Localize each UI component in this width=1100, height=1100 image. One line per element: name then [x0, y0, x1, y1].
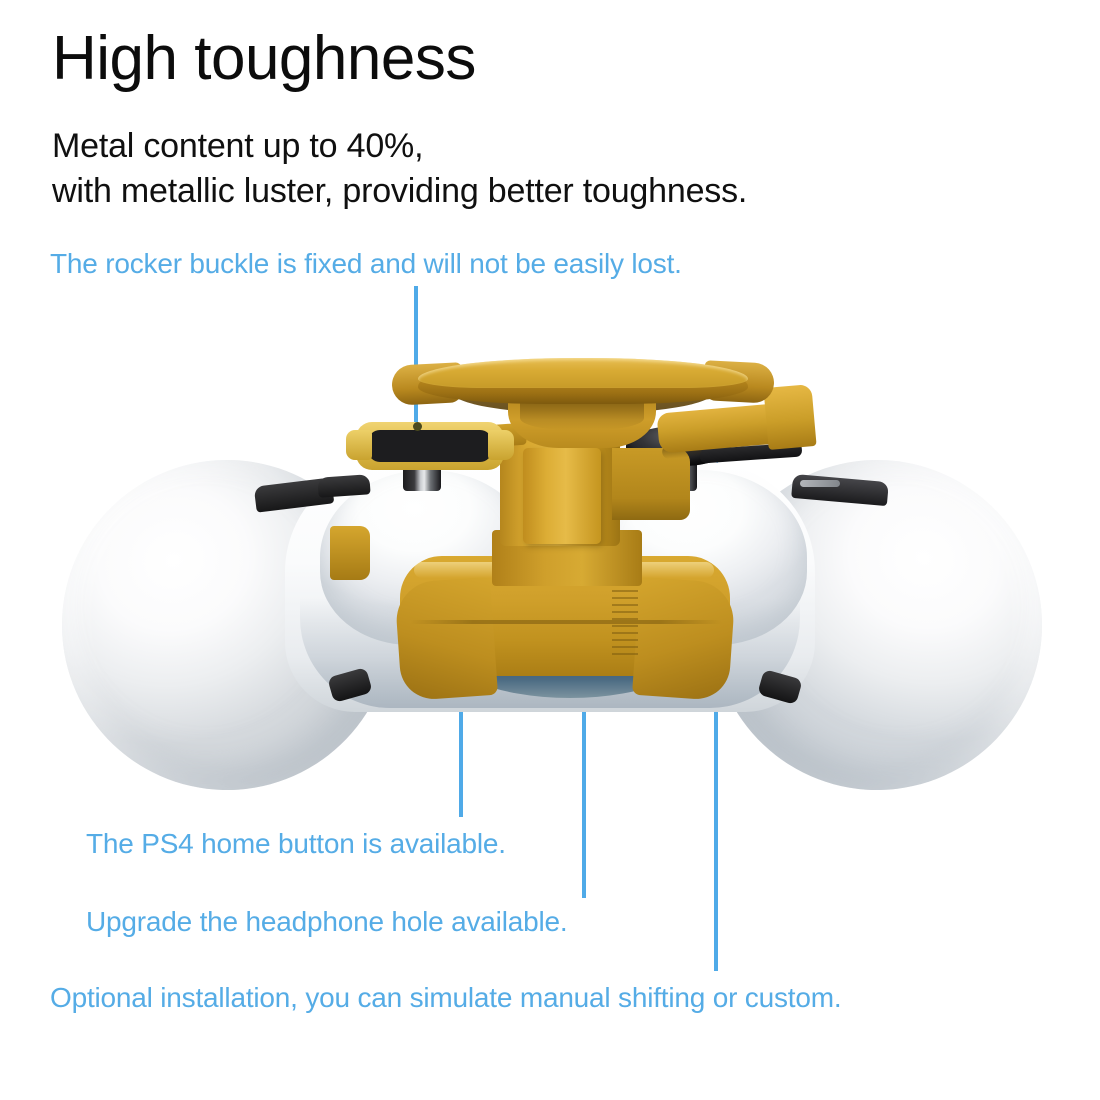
shoulder-button-r1-highlight [800, 480, 840, 487]
steering-wheel-hub-shade [520, 400, 644, 430]
page-title: High toughness [52, 28, 476, 90]
mount-shell-left-wing [394, 577, 498, 701]
shifter-paddle-lever [763, 384, 816, 450]
mount-shell-ridges [612, 576, 638, 660]
rocker-buckle-tab-left [346, 430, 372, 460]
clamp-bracket-right [612, 448, 690, 520]
callout-rocker-buckle: The rocker buckle is fixed and will not … [50, 248, 682, 280]
clamp-front-tab [523, 448, 601, 544]
rocker-buckle-inner [368, 430, 492, 462]
shoulder-button-l2 [317, 474, 370, 498]
shifter-paddle-left-stub [330, 526, 370, 580]
steering-wheel-rim [418, 358, 748, 388]
rocker-buckle-screw [413, 422, 422, 431]
product-photo [0, 330, 1100, 830]
mount-shell-groove [410, 620, 722, 624]
rocker-buckle-tab-right [488, 430, 514, 460]
infographic-page: High toughness Metal content up to 40%, … [0, 0, 1100, 1100]
callout-optional-installation: Optional installation, you can simulate … [50, 982, 841, 1014]
mount-shell-right-wing [632, 577, 736, 701]
callout-headphone-hole: Upgrade the headphone hole available. [86, 906, 567, 938]
page-subtitle: Metal content up to 40%, with metallic l… [52, 124, 747, 214]
callout-home-button: The PS4 home button is available. [86, 828, 506, 860]
